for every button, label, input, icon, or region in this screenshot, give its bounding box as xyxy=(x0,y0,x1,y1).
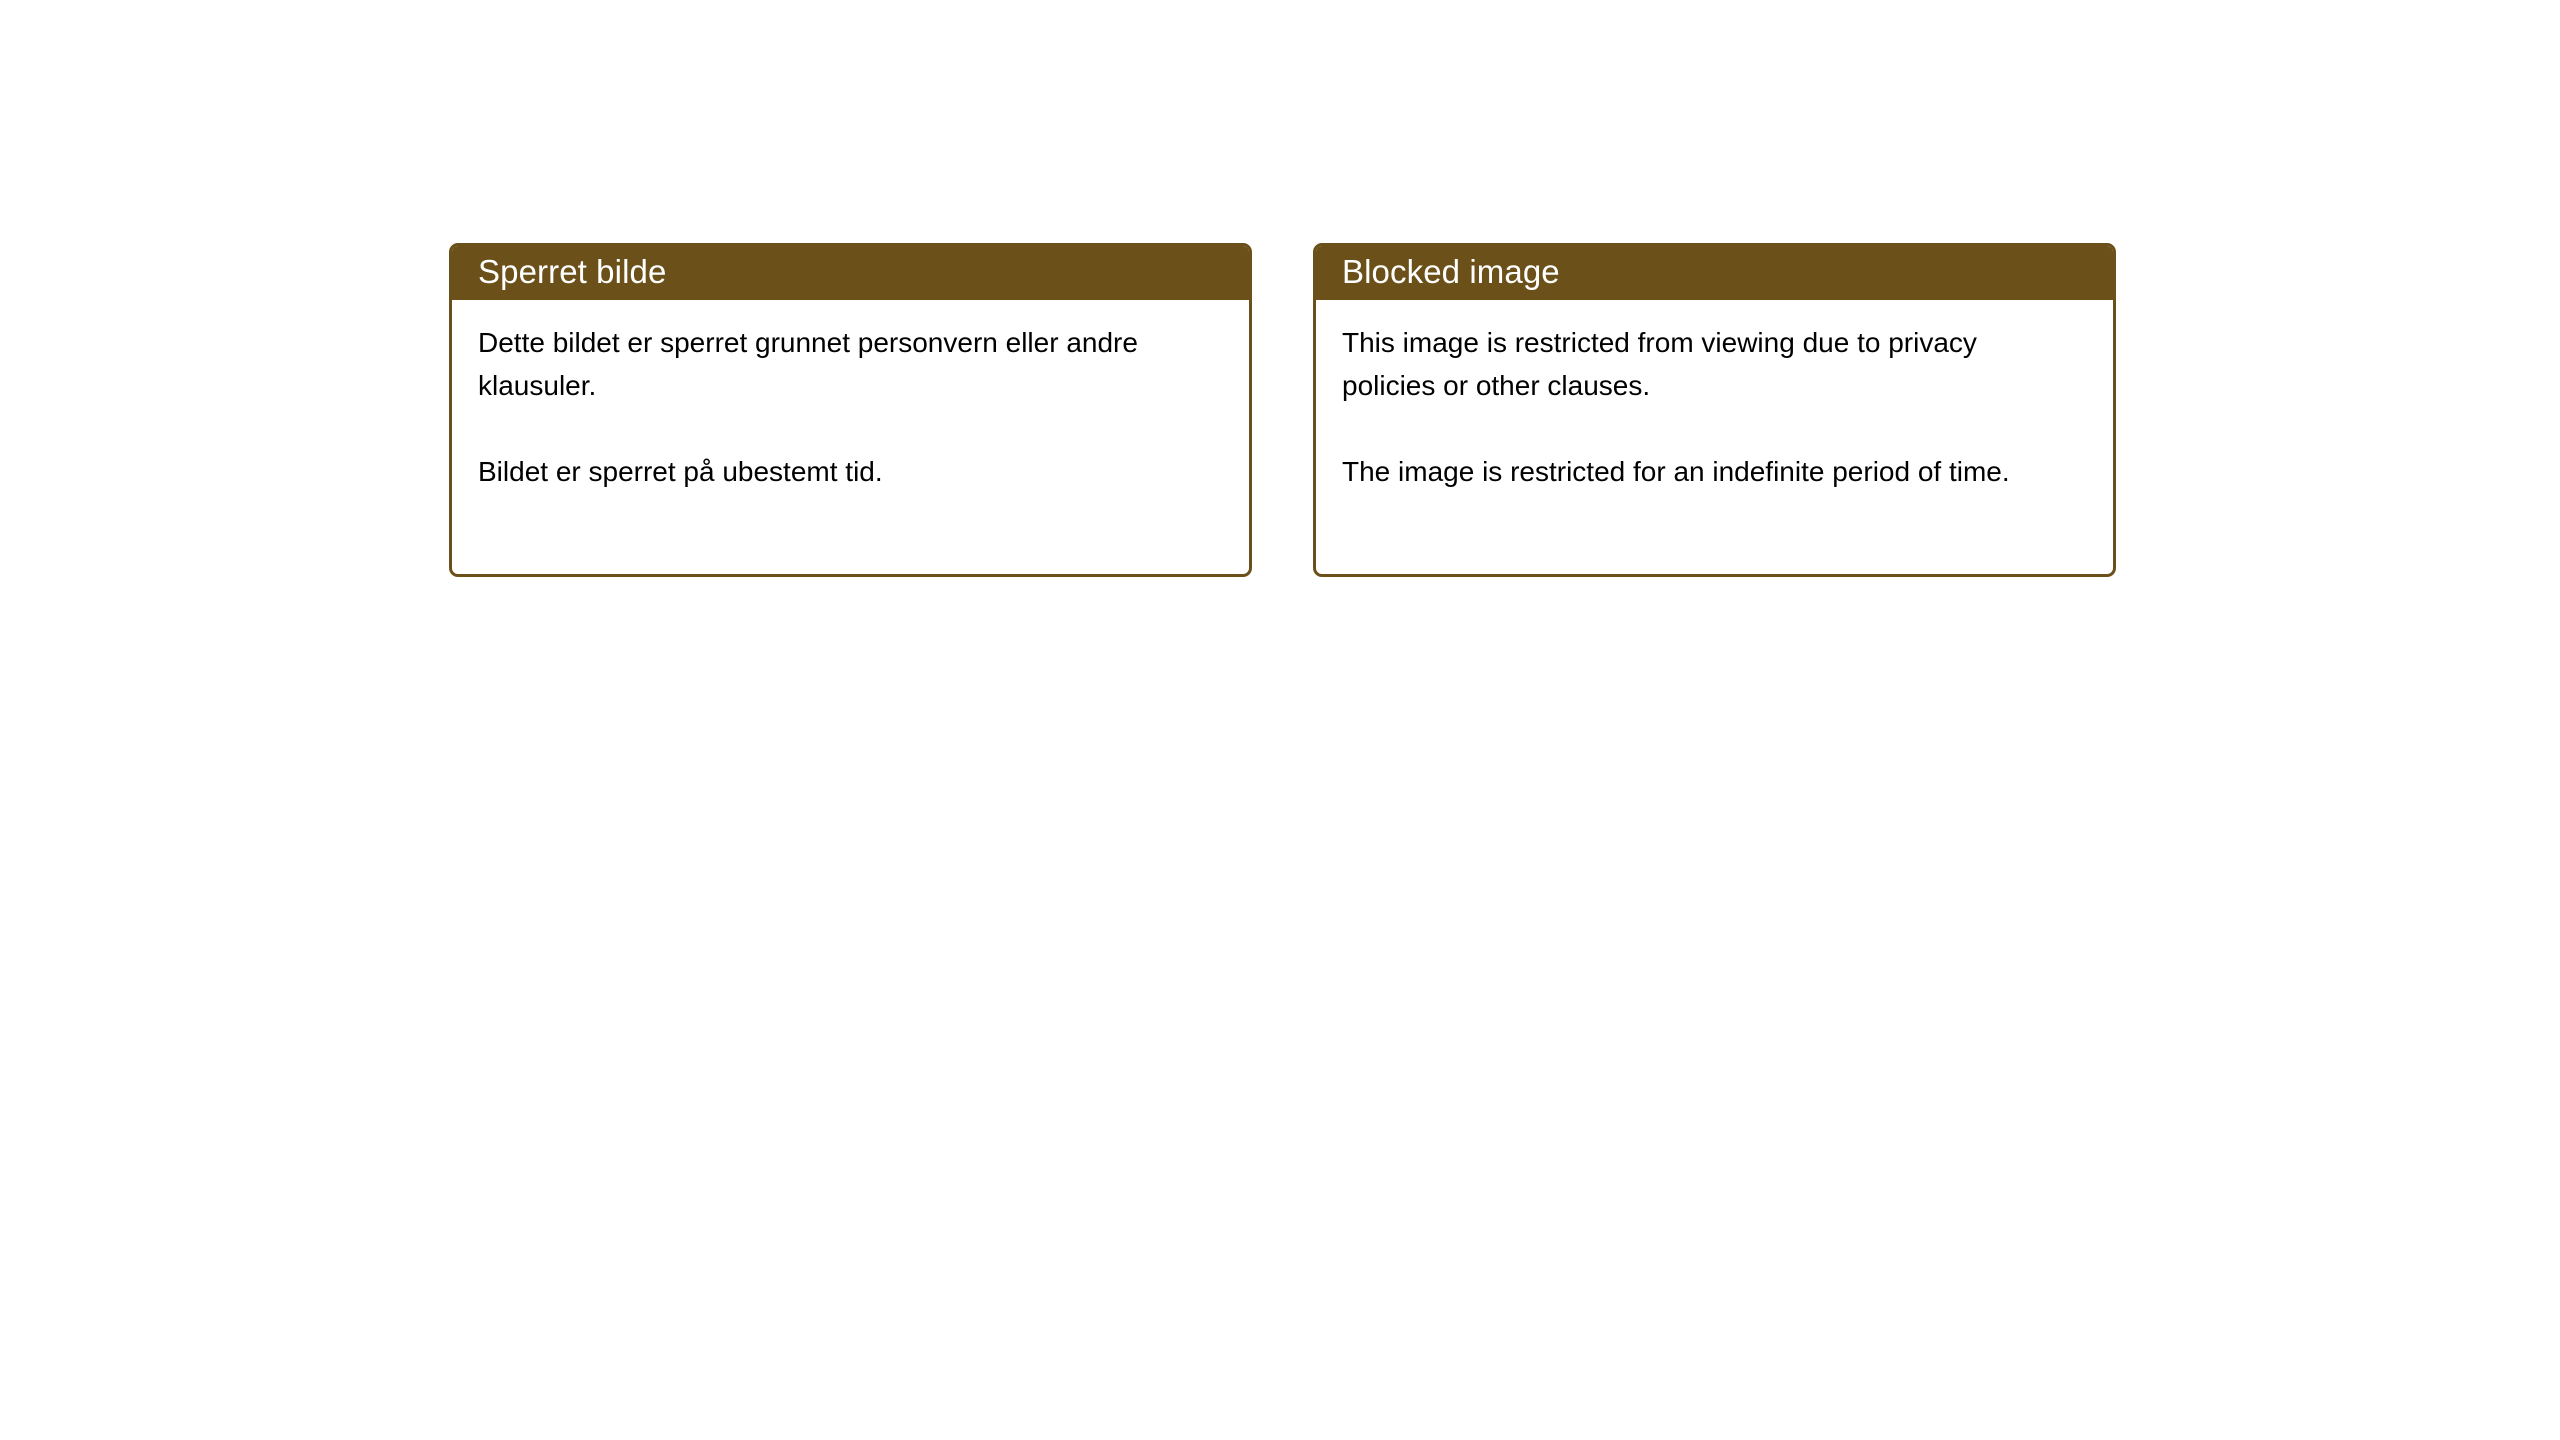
card-header-english: Blocked image xyxy=(1313,243,2116,300)
card-header-norwegian: Sperret bilde xyxy=(449,243,1252,300)
blocked-image-notice-area: Sperret bilde Dette bildet er sperret gr… xyxy=(449,243,2116,577)
card-paragraph-secondary-english: The image is restricted for an indefinit… xyxy=(1342,450,2072,493)
card-title-english: Blocked image xyxy=(1342,255,1560,288)
card-paragraph-secondary-norwegian: Bildet er sperret på ubestemt tid. xyxy=(478,450,1208,493)
paragraph-spacer-norwegian xyxy=(478,407,1223,450)
blocked-image-card-english: Blocked image This image is restricted f… xyxy=(1313,243,2116,577)
card-paragraph-primary-norwegian: Dette bildet er sperret grunnet personve… xyxy=(478,321,1208,407)
blocked-image-card-norwegian: Sperret bilde Dette bildet er sperret gr… xyxy=(449,243,1252,577)
card-title-norwegian: Sperret bilde xyxy=(478,255,666,288)
card-paragraph-primary-english: This image is restricted from viewing du… xyxy=(1342,321,2072,407)
card-body-norwegian: Dette bildet er sperret grunnet personve… xyxy=(452,300,1249,574)
paragraph-spacer-english xyxy=(1342,407,2087,450)
card-body-english: This image is restricted from viewing du… xyxy=(1316,300,2113,574)
